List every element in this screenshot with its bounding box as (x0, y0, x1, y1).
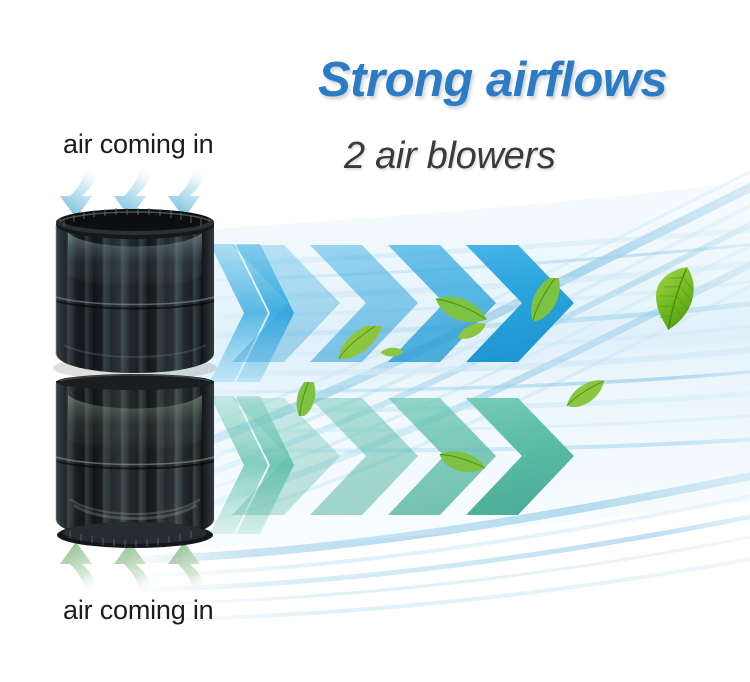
airflow-infographic: Strong airflows 2 air blowers (0, 0, 750, 682)
leaf-icon (520, 278, 576, 324)
lower-outflow-nozzle (208, 390, 308, 540)
page-subtitle: 2 air blowers (344, 135, 744, 178)
intake-arrow-up-1 (60, 542, 98, 598)
chevron-blue-4 (466, 245, 574, 362)
intake-arrow-down-1 (60, 162, 98, 218)
chevron-blue-3 (388, 245, 496, 362)
upper-airflow-chevrons (228, 243, 648, 368)
chevron-green-2 (310, 398, 418, 515)
chevron-green-1 (232, 398, 340, 515)
intake-arrows-bottom (58, 532, 258, 602)
leaf-icon (379, 345, 405, 360)
chevron-blue-1 (232, 245, 340, 362)
chevron-green-4 (466, 398, 574, 515)
leaf-icon (286, 382, 330, 416)
intake-arrow-down-3 (168, 162, 206, 218)
lower-airflow-chevrons (228, 396, 648, 521)
intake-arrow-up-3 (168, 542, 206, 598)
leaf-icon (563, 380, 611, 412)
caption-air-coming-in-top: air coming in (63, 129, 213, 160)
upper-outflow-nozzle (208, 238, 308, 388)
intake-arrow-up-2 (114, 542, 152, 598)
leaf-icon (436, 446, 486, 482)
chevron-green-3 (388, 398, 496, 515)
upper-unit-top-rim (56, 208, 214, 239)
chevron-blue-2 (310, 245, 418, 362)
intake-arrows-top (58, 160, 258, 230)
page-title: Strong airflows (318, 52, 718, 108)
upper-unit-ribs (56, 223, 214, 373)
intake-arrow-down-2 (114, 162, 152, 218)
caption-air-coming-in-bottom: air coming in (63, 595, 213, 626)
leaf-icon (430, 292, 488, 332)
leaf-icon (332, 326, 392, 360)
lower-unit-ribs (56, 381, 214, 539)
leaf-icon (640, 262, 710, 338)
leaf-icon (455, 322, 489, 342)
lower-blower-unit (50, 373, 220, 553)
lower-unit-bottom-rim (57, 522, 213, 548)
upper-blower-unit (50, 205, 220, 380)
